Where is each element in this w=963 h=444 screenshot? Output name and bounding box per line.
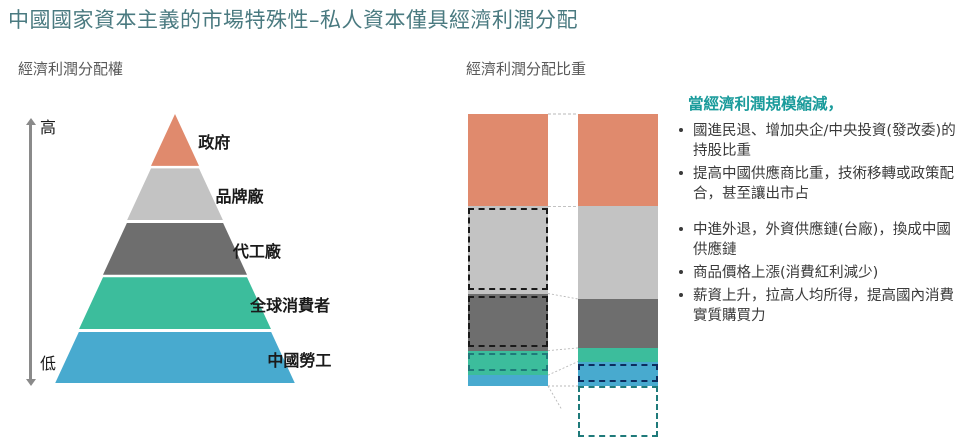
note-item-text: 薪資上升，拉高人均所得，提高國內消費實質購買力 <box>693 288 954 324</box>
bar-segment-highlight <box>468 353 548 371</box>
axis-label-low: 低 <box>40 350 56 374</box>
bar-segment-highlight <box>578 386 658 437</box>
note-item: 中進外退，外資供應鏈(台廠)，換成中國供應鏈 <box>676 220 963 260</box>
page-title: 中國國家資本主義的市場特殊性–私人資本僅具經濟利潤分配 <box>8 4 578 34</box>
note-item: 提高中國供應商比重，技術移轉或政策配合，甚至讓出市占 <box>676 164 963 204</box>
notes-heading: 當經濟利潤規模縮減， <box>688 92 963 114</box>
bullet-icon <box>679 270 683 274</box>
bar-segment <box>578 114 658 206</box>
note-item: 薪資上升，拉高人均所得，提高國內消費實質購買力 <box>676 286 963 326</box>
bullet-icon <box>679 171 683 175</box>
bar-segment-highlight <box>468 208 548 289</box>
bar-segment <box>578 206 658 298</box>
pyramid-slice <box>55 332 295 384</box>
pyramid-tier-label-oem: 代工廠 <box>233 238 281 262</box>
bar-segment-highlight <box>468 296 548 347</box>
note-item-text: 提高中國供應商比重，技術移轉或政策配合，甚至讓出市占 <box>693 166 954 202</box>
pyramid-tier-label-consumers: 全球消費者 <box>250 292 330 316</box>
stacked-bar-chart <box>455 100 670 410</box>
pyramid-slice <box>55 114 295 166</box>
pyramid-tier-label-brand: 品牌廠 <box>216 183 264 207</box>
bar-segment <box>578 348 658 362</box>
left-panel-heading: 經濟利潤分配權 <box>18 58 123 79</box>
pyramid-tier-label-government: 政府 <box>198 129 230 153</box>
note-item: 商品價格上漲(消費紅利減少) <box>676 263 963 283</box>
pyramid-slice-fill <box>55 114 295 166</box>
right-panel-heading: 經濟利潤分配比重 <box>466 58 586 79</box>
bullet-icon <box>679 128 683 132</box>
bullet-icon <box>679 293 683 297</box>
bar-segment-highlight <box>578 364 658 382</box>
notes-panel: 當經濟利潤規模縮減， 國進民退、增加央企/中央投資(發改委)的持股比重提高中國供… <box>676 92 963 329</box>
double-arrow-vertical-icon <box>26 118 36 386</box>
bar-segment <box>578 299 658 348</box>
notes-list: 國進民退、增加央企/中央投資(發改委)的持股比重提高中國供應商比重，技術移轉或政… <box>676 121 963 326</box>
axis-label-high: 高 <box>40 114 56 138</box>
bar-segment <box>468 375 548 386</box>
note-item: 國進民退、增加央企/中央投資(發改委)的持股比重 <box>676 121 963 161</box>
bullet-icon <box>679 227 683 231</box>
note-item-text: 中進外退，外資供應鏈(台廠)，換成中國供應鏈 <box>693 222 951 258</box>
note-item-text: 商品價格上漲(消費紅利減少) <box>693 265 878 281</box>
pyramid-slice-fill <box>55 332 295 384</box>
note-item-text: 國進民退、增加央企/中央投資(發改委)的持股比重 <box>693 123 956 159</box>
pyramid-tier-label-labor: 中國勞工 <box>267 347 331 371</box>
pyramid-diagram: 高 低 政府 品牌廠 代工廠 全球消費者 中國勞工 <box>0 100 455 410</box>
bar-segment <box>468 114 548 206</box>
